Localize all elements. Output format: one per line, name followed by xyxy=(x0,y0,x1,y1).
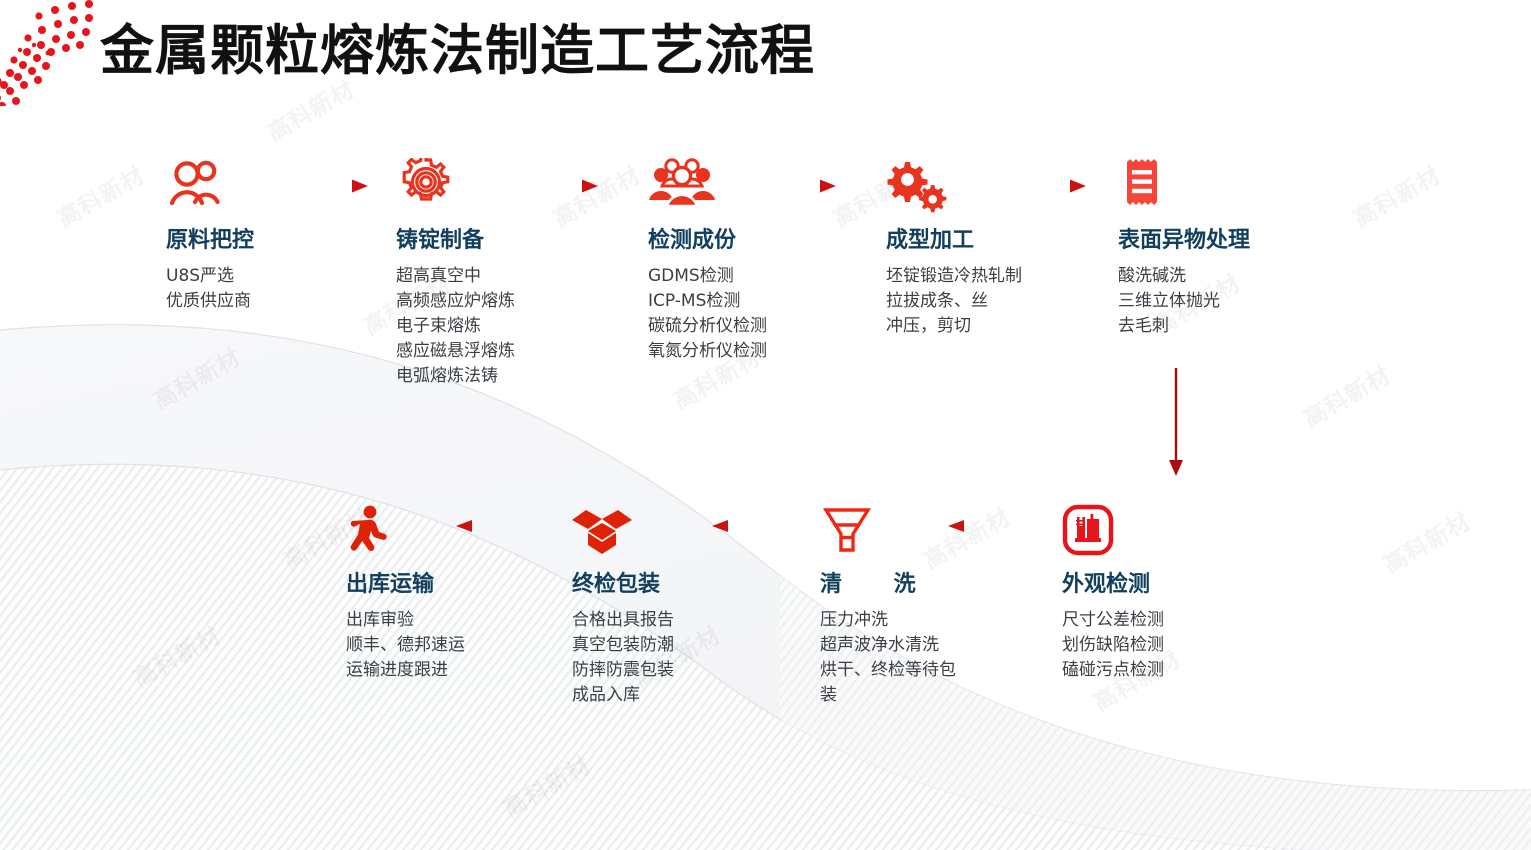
flow-step-detail-line: 运输进度跟进 xyxy=(346,658,465,683)
arrow-step4-to-step5 xyxy=(1012,178,1088,194)
flow-step-detail-line: 高频感应炉熔炼 xyxy=(396,289,515,314)
arrow-step1-to-step2 xyxy=(294,178,370,194)
flow-step-title: 清 洗 xyxy=(820,566,970,598)
flow-step-detail-list: 尺寸公差检测 划伤缺陷检测 磕碰污点检测 xyxy=(1062,608,1164,683)
flow-step-detail-line: 压力冲洗 xyxy=(820,608,970,633)
flow-step-title: 表面异物处理 xyxy=(1118,222,1250,254)
flow-step-detail-line: 划伤缺陷检测 xyxy=(1062,633,1164,658)
flow-step-detail-list: 出库审验 顺丰、德邦速运 运输进度跟进 xyxy=(346,608,465,683)
flow-step-1[interactable]: 原料把控 U8S严选 优质供应商 xyxy=(166,158,254,314)
flow-step-detail-line: 电子束熔炼 xyxy=(396,314,515,339)
flow-step-detail-line: 合格出具报告 xyxy=(572,608,674,633)
flow-step-detail-line: 氧氮分析仪检测 xyxy=(648,339,767,364)
flow-step-title: 成型加工 xyxy=(886,222,1022,254)
flow-step-detail-line: 坯锭锻造冷热轧制 xyxy=(886,264,1022,289)
flow-step-detail-line: 磕碰污点检测 xyxy=(1062,658,1164,683)
double-gears-icon xyxy=(886,158,950,214)
flow-step-title: 原料把控 xyxy=(166,222,254,254)
flow-step-2[interactable]: 铸锭制备 超高真空中 高频感应炉熔炼 电子束熔炼 感应磁悬浮熔炼 电弧熔炼法铸 xyxy=(396,158,515,389)
flow-step-detail-line: 顺丰、德邦速运 xyxy=(346,633,465,658)
flow-step-title: 检测成份 xyxy=(648,222,767,254)
flow-step-detail-line: 碳硫分析仪检测 xyxy=(648,314,767,339)
flow-step-detail-line: 防摔防震包装 xyxy=(572,658,674,683)
flow-step-detail-line: 成品入库 xyxy=(572,683,674,708)
flow-step-title: 终检包装 xyxy=(572,566,674,598)
flow-step-6[interactable]: 外观检测 尺寸公差检测 划伤缺陷检测 磕碰污点检测 xyxy=(1062,502,1164,683)
flow-step-detail-line: 冲压，剪切 xyxy=(886,314,1022,339)
flow-step-detail-line: ICP-MS检测 xyxy=(648,289,767,314)
page-title: 金属颗粒熔炼法制造工艺流程 xyxy=(100,6,815,85)
flow-step-detail-line: 拉拔成条、丝 xyxy=(886,289,1022,314)
flow-step-detail-line: 出库审验 xyxy=(346,608,465,633)
arrow-step3-to-step4 xyxy=(762,178,838,194)
process-flow-diagram: 原料把控 U8S严选 优质供应商 铸锭制备 超高真空中 高频感应炉熔炼 电子束熔… xyxy=(0,0,1531,850)
flow-step-detail-line: 感应磁悬浮熔炼 xyxy=(396,339,515,364)
arrow-step5-to-step6 xyxy=(1166,368,1186,478)
flow-step-detail-line: 尺寸公差检测 xyxy=(1062,608,1164,633)
flow-step-detail-line: 去毛刺 xyxy=(1118,314,1250,339)
arrow-step2-to-step3 xyxy=(524,178,600,194)
flow-step-title: 铸锭制备 xyxy=(396,222,515,254)
flow-step-detail-line: 酸洗碱洗 xyxy=(1118,264,1250,289)
flow-step-8[interactable]: 终检包装 合格出具报告 真空包装防潮 防摔防震包装 成品入库 xyxy=(572,502,674,708)
people-group-icon xyxy=(648,158,716,214)
flow-step-detail-list: 坯锭锻造冷热轧制 拉拔成条、丝 冲压，剪切 xyxy=(886,264,1022,339)
two-people-outline-icon xyxy=(166,158,226,214)
flow-step-detail-line: 烘干、终检等待包装 xyxy=(820,658,970,708)
receipt-icon xyxy=(1118,158,1166,214)
flow-step-title: 出库运输 xyxy=(346,566,465,598)
factory-badge-icon xyxy=(1062,502,1114,558)
flow-step-detail-list: 酸洗碱洗 三维立体抛光 去毛刺 xyxy=(1118,264,1250,339)
flow-step-detail-list: 超高真空中 高频感应炉熔炼 电子束熔炼 感应磁悬浮熔炼 电弧熔炼法铸 xyxy=(396,264,515,389)
page-header: 金属颗粒熔炼法制造工艺流程 xyxy=(0,0,1531,100)
flow-step-4[interactable]: 成型加工 坯锭锻造冷热轧制 拉拔成条、丝 冲压，剪切 xyxy=(886,158,1022,339)
flow-step-5[interactable]: 表面异物处理 酸洗碱洗 三维立体抛光 去毛刺 xyxy=(1118,158,1250,339)
open-box-icon xyxy=(572,502,632,558)
flow-step-detail-line: 三维立体抛光 xyxy=(1118,289,1250,314)
walking-person-icon xyxy=(346,502,390,558)
flow-step-detail-line: 超声波净水清洗 xyxy=(820,633,970,658)
flow-step-detail-list: 压力冲洗 超声波净水清洗 烘干、终检等待包装 xyxy=(820,608,970,708)
flow-step-3[interactable]: 检测成份 GDMS检测 ICP-MS检测 碳硫分析仪检测 氧氮分析仪检测 xyxy=(648,158,767,364)
funnel-outline-icon xyxy=(820,502,874,558)
flow-step-detail-list: 合格出具报告 真空包装防潮 防摔防震包装 成品入库 xyxy=(572,608,674,708)
gear-outline-icon xyxy=(396,158,456,214)
flow-step-9[interactable]: 出库运输 出库审验 顺丰、德邦速运 运输进度跟进 xyxy=(346,502,465,683)
flow-step-7[interactable]: 清 洗 压力冲洗 超声波净水清洗 烘干、终检等待包装 xyxy=(820,502,970,708)
flow-step-detail-line: 优质供应商 xyxy=(166,289,254,314)
flow-step-detail-line: GDMS检测 xyxy=(648,264,767,289)
flow-step-detail-line: 电弧熔炼法铸 xyxy=(396,364,515,389)
flow-step-detail-line: 超高真空中 xyxy=(396,264,515,289)
arrow-step7-to-step8 xyxy=(708,518,790,534)
flow-step-title: 外观检测 xyxy=(1062,566,1164,598)
flow-step-detail-list: U8S严选 优质供应商 xyxy=(166,264,254,314)
flow-step-detail-line: U8S严选 xyxy=(166,264,254,289)
flow-step-detail-list: GDMS检测 ICP-MS检测 碳硫分析仪检测 氧氮分析仪检测 xyxy=(648,264,767,364)
flow-step-detail-line: 真空包装防潮 xyxy=(572,633,674,658)
